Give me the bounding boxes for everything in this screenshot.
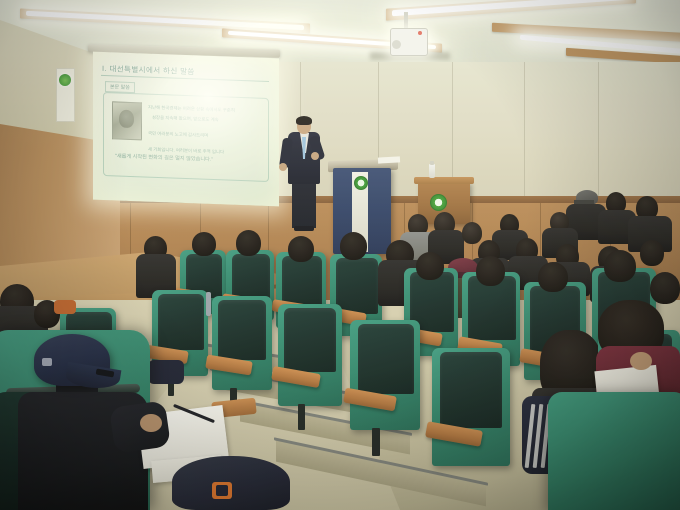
audience-head bbox=[192, 232, 216, 256]
secondary-lectern-top bbox=[414, 177, 474, 184]
seat-back-panel bbox=[158, 294, 204, 350]
cap-logo-icon bbox=[42, 358, 52, 366]
seat-back-panel bbox=[282, 256, 322, 308]
seat-back-panel bbox=[440, 352, 502, 428]
lecture-hall-photo: I. 대선특별시에서 하신 말씀 본문 말씀 지난해 한국경제는 어려운 상황 … bbox=[0, 0, 680, 510]
slide-content-box: 지난해 한국경제는 어려운 상황 속에서도 꾸준히 성장을 지속해 왔으며, 앞… bbox=[103, 92, 269, 182]
slide-bullet: 성장을 지속해 왔으며, 앞으로도 계속 bbox=[152, 115, 219, 123]
slide-bullet: 국민 여러분의 노고에 감사드리며 bbox=[148, 131, 208, 139]
audience-head bbox=[650, 272, 680, 304]
seat-back-panel bbox=[358, 324, 414, 394]
seat-back-panel bbox=[336, 258, 378, 314]
podium-emblem-icon bbox=[354, 176, 368, 190]
foreground-right-hand bbox=[630, 352, 652, 370]
audience-head bbox=[640, 240, 664, 266]
water-bottle-cap bbox=[430, 161, 434, 165]
slide-portrait-photo bbox=[112, 101, 142, 140]
wall-emblem-icon bbox=[59, 74, 71, 86]
projector-power-led-icon bbox=[418, 31, 422, 35]
presenter-hair bbox=[296, 116, 312, 125]
projection-screen: I. 대선특별시에서 하신 말씀 본문 말씀 지난해 한국경제는 어려운 상황 … bbox=[93, 52, 279, 207]
presenter-left-hand bbox=[279, 163, 287, 171]
seat-cushion-orange bbox=[54, 300, 76, 314]
foreground-person-hand bbox=[140, 414, 162, 432]
slide-bullet: 지난해 한국경제는 어려운 상황 속에서도 꾸준히 bbox=[148, 105, 235, 114]
seat-back-panel bbox=[284, 308, 336, 372]
audience-head bbox=[416, 252, 444, 280]
presenter-right-hand bbox=[311, 152, 319, 160]
audience-head bbox=[462, 222, 482, 244]
floor-bag bbox=[148, 360, 184, 384]
presenter-shoes bbox=[294, 226, 314, 231]
lectern-emblem-icon bbox=[430, 194, 447, 211]
presenter-legs bbox=[292, 182, 316, 228]
audience-head bbox=[538, 262, 568, 292]
foreground-person-arm bbox=[109, 400, 171, 453]
audience-head bbox=[288, 236, 314, 262]
audience-head bbox=[476, 256, 505, 286]
seat-back-panel bbox=[218, 300, 266, 360]
water-bottle bbox=[429, 164, 435, 178]
cap-logo-inner-icon bbox=[216, 485, 228, 496]
projector-lens-icon bbox=[392, 40, 401, 49]
podium-papers bbox=[378, 156, 400, 163]
slide-portrait-face bbox=[119, 110, 134, 129]
umbrella-handle bbox=[206, 292, 211, 316]
audience-head bbox=[340, 232, 367, 260]
foreground-right-seat bbox=[548, 392, 680, 510]
audience-head bbox=[604, 250, 636, 282]
audience-head bbox=[236, 230, 261, 256]
seat-leg bbox=[298, 404, 305, 430]
seat-leg bbox=[372, 428, 380, 456]
